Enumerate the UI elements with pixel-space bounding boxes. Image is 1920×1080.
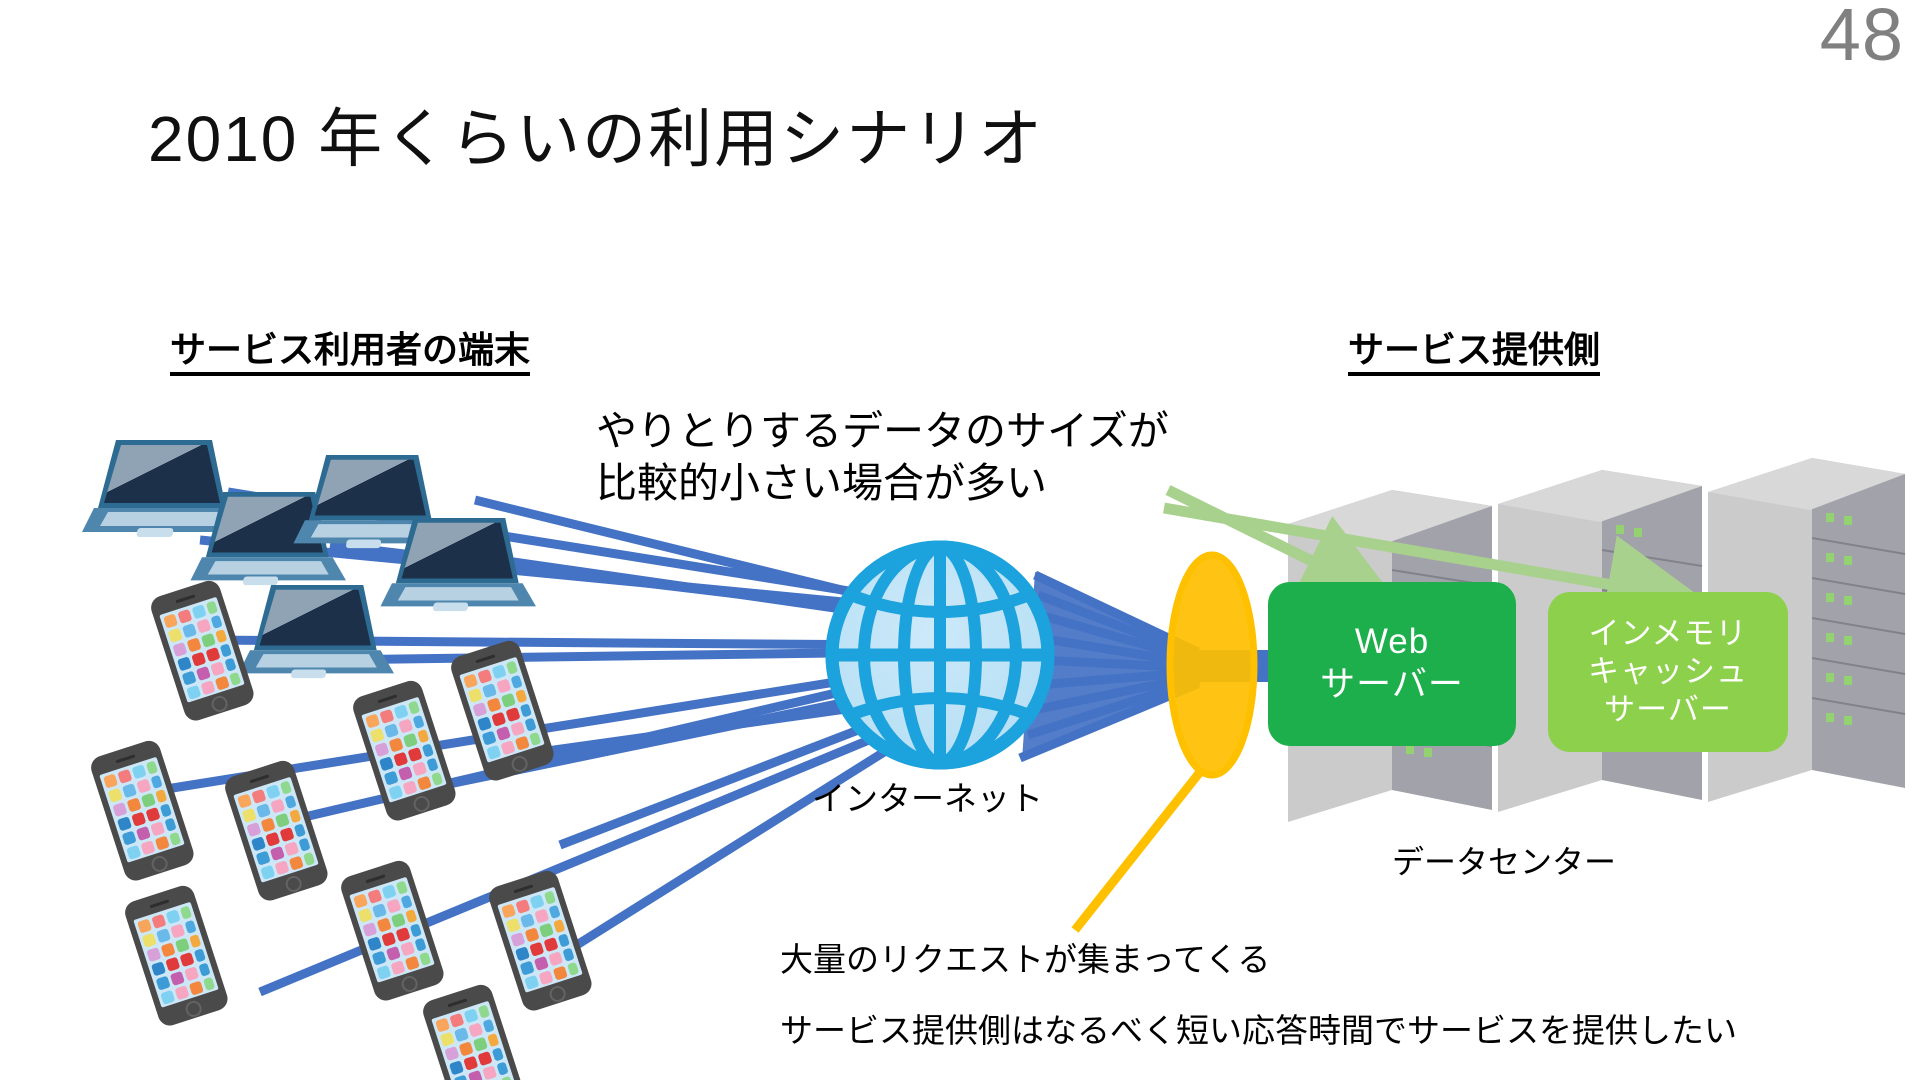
request-funnel	[1170, 555, 1254, 775]
globe-icon	[832, 547, 1048, 763]
section-header-provider: サービス提供側	[1348, 330, 1600, 376]
page-number: 48	[1820, 0, 1904, 72]
cache-server-label-line1: インメモリ	[1588, 615, 1747, 653]
internet-label: インターネット	[812, 778, 1043, 820]
cache-server-label-line2: キャッシュ	[1588, 653, 1748, 691]
requests-annotation: 大量のリクエストが集まってくる	[780, 939, 1270, 981]
latency-annotation: サービス提供側はなるべく短い応答時間でサービスを提供したい	[780, 1010, 1737, 1052]
slide-root: 48 2010 年くらいの利用シナリオ	[0, 0, 1920, 1080]
data-size-line1: やりとりするデータのサイズが	[596, 405, 1169, 457]
web-server-box: Web サーバー	[1268, 582, 1516, 746]
data-size-annotation: やりとりするデータのサイズが 比較的小さい場合が多い	[596, 405, 1169, 510]
web-server-label-line1: Web	[1355, 621, 1429, 664]
inmemory-cache-server-box: インメモリ キャッシュ サーバー	[1548, 592, 1788, 752]
funnel-callout-line	[1075, 772, 1200, 930]
datacenter-label: データセンター	[1392, 842, 1616, 883]
client-links	[160, 492, 918, 992]
laptop-icons	[82, 440, 536, 678]
cache-server-label-line3: サーバー	[1604, 691, 1732, 729]
page-title: 2010 年くらいの利用シナリオ	[148, 88, 1044, 180]
web-server-label-line2: サーバー	[1320, 664, 1464, 707]
section-header-clients: サービス利用者の端末	[170, 330, 530, 376]
smartphone-icons	[88, 578, 595, 1080]
data-size-line2: 比較的小さい場合が多い	[596, 457, 1169, 509]
request-beam	[1020, 572, 1278, 760]
data-size-arrows	[1164, 490, 1630, 588]
